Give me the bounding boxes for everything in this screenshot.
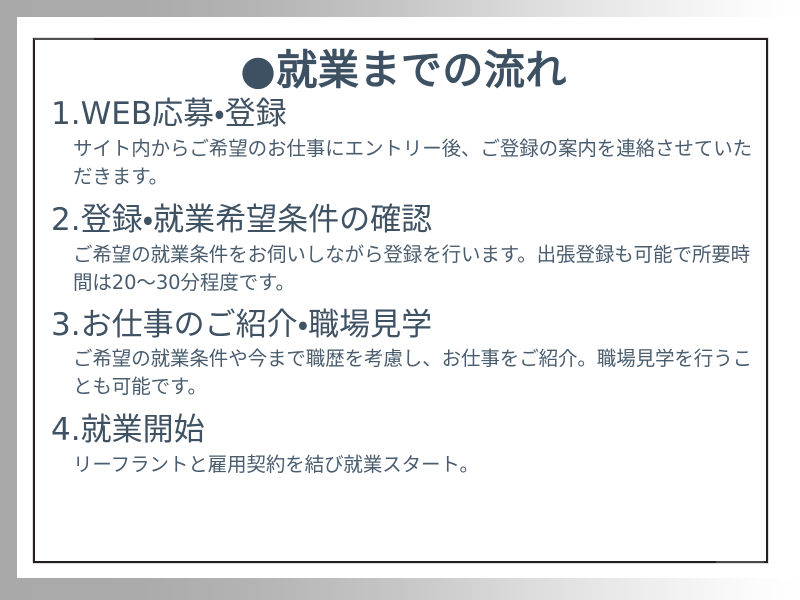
- page-title: ●就業までの流れ: [51, 48, 756, 92]
- paper-card: ●就業までの流れ 1.WEB応募・登録 サイト内からご希望のお仕事にエントリー後…: [17, 17, 800, 578]
- step-item-2: 2.登録・就業希望条件の確認 ご希望の就業条件をお伺いしながら登録を行います。出…: [51, 202, 756, 296]
- step-item-4: 4.就業開始 リーフラントと雇用契約を結び就業スタート。: [51, 412, 756, 479]
- step-body-3: ご希望の就業条件や今まで職歴を考慮し、お仕事をご紹介。職場見学を行うことも可能で…: [73, 345, 756, 400]
- steps-list: 1.WEB応募・登録 サイト内からご希望のお仕事にエントリー後、ご登録の案内を連…: [51, 96, 756, 478]
- page-backdrop: ●就業までの流れ 1.WEB応募・登録 サイト内からご希望のお仕事にエントリー後…: [0, 0, 800, 600]
- step-heading-2: 2.登録・就業希望条件の確認: [51, 202, 756, 240]
- content-area: ●就業までの流れ 1.WEB応募・登録 サイト内からご希望のお仕事にエントリー後…: [35, 40, 770, 565]
- step-body-2: ご希望の就業条件をお伺いしながら登録を行います。出張登録も可能で所要時間は20〜…: [73, 241, 756, 296]
- step-item-1: 1.WEB応募・登録 サイト内からご希望のお仕事にエントリー後、ご登録の案内を連…: [51, 96, 756, 190]
- content-frame-border: ●就業までの流れ 1.WEB応募・登録 サイト内からご希望のお仕事にエントリー後…: [33, 38, 768, 563]
- step-body-1: サイト内からご希望のお仕事にエントリー後、ご登録の案内を連絡させていただきます。: [73, 135, 756, 190]
- step-body-4: リーフラントと雇用契約を結び就業スタート。: [73, 451, 756, 479]
- step-heading-4: 4.就業開始: [51, 412, 756, 450]
- step-item-3: 3.お仕事のご紹介・職場見学 ご希望の就業条件や今まで職歴を考慮し、お仕事をご紹…: [51, 307, 756, 401]
- step-heading-1: 1.WEB応募・登録: [51, 96, 756, 134]
- step-heading-3: 3.お仕事のご紹介・職場見学: [51, 307, 756, 345]
